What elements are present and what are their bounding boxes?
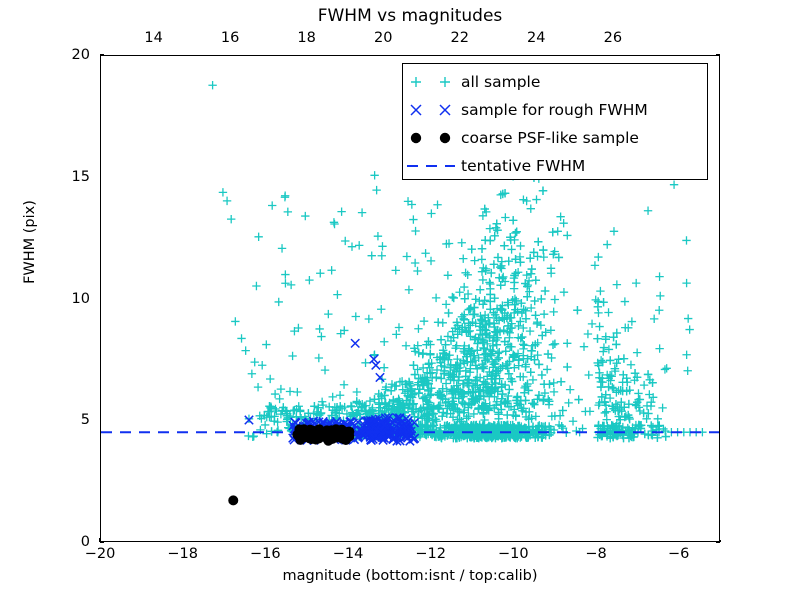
legend-item[interactable]: tentative FWHM (403, 152, 707, 180)
chart-title: FWHM vs magnitudes (100, 6, 720, 26)
plus-icon (403, 68, 461, 96)
x-tick-label-bottom: −10 (498, 546, 529, 562)
legend-item-label: sample for rough FWHM (461, 101, 648, 119)
x-tick-label-top: 16 (221, 30, 239, 46)
x-tick-label-top: 18 (297, 30, 315, 46)
figure-canvas: FWHM vs magnitudes FWHM (pix) magnitude … (0, 0, 800, 600)
y-tick-label: 0 (44, 534, 90, 550)
legend-item[interactable]: all sample (403, 68, 707, 96)
legend-item[interactable]: coarse PSF-like sample (403, 124, 707, 152)
legend-item-label: coarse PSF-like sample (461, 129, 639, 147)
legend-item-label: all sample (461, 73, 540, 91)
x-tick-label-top: 22 (451, 30, 469, 46)
y-tick-label: 5 (44, 412, 90, 428)
legend-item[interactable]: sample for rough FWHM (403, 96, 707, 124)
cross-icon (403, 96, 461, 124)
x-tick-label-top: 20 (374, 30, 392, 46)
x-tick-label-top: 26 (604, 30, 622, 46)
legend-item-label: tentative FWHM (461, 157, 585, 175)
x-tick-label-bottom: −8 (585, 546, 606, 562)
circle-icon (403, 124, 461, 152)
x-axis-label: magnitude (bottom:isnt / top:calib) (100, 568, 720, 584)
y-tick-label: 15 (44, 169, 90, 185)
x-tick-label-bottom: −6 (668, 546, 689, 562)
dashed-line-icon (403, 152, 461, 180)
legend-box: all samplesample for rough FWHMcoarse PS… (402, 63, 708, 180)
x-tick-label-bottom: −12 (415, 546, 446, 562)
x-tick-label-bottom: −18 (167, 546, 198, 562)
x-tick-label-bottom: −14 (333, 546, 364, 562)
y-axis-label: FWHM (pix) (22, 152, 38, 332)
x-tick-label-bottom: −16 (250, 546, 281, 562)
x-tick-label-top: 14 (144, 30, 162, 46)
y-tick-label: 20 (44, 47, 90, 63)
x-tick-label-top: 24 (527, 30, 545, 46)
y-tick-label: 10 (44, 291, 90, 307)
